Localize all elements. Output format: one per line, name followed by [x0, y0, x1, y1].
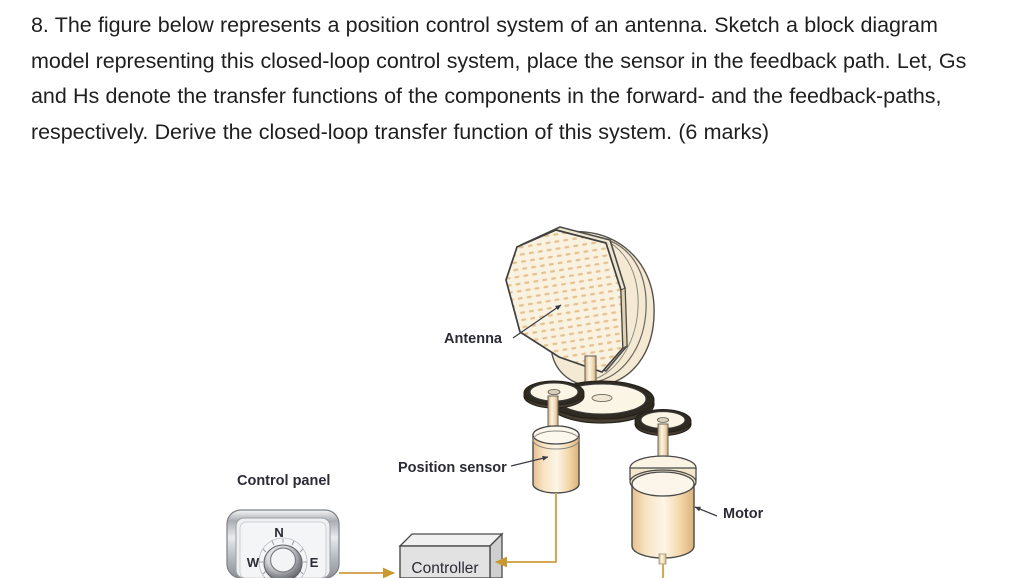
- motor-unit: [630, 424, 696, 564]
- antenna-system-figure: N W E Controller Antenna: [0, 196, 1024, 578]
- page-root: 8. The figure below represents a positio…: [0, 0, 1024, 578]
- control-panel[interactable]: N W E: [227, 510, 339, 578]
- compass-east-label: E: [310, 555, 319, 570]
- antenna-assembly: [506, 227, 654, 406]
- antenna-label: Antenna: [444, 331, 503, 347]
- antenna-dish-face: [506, 227, 627, 372]
- wire-sensor-to-controller: [496, 493, 556, 562]
- motor-label: Motor: [723, 506, 764, 522]
- control-panel-label: Control panel: [237, 473, 330, 489]
- compass-knob[interactable]: [264, 545, 302, 578]
- compass-west-label: W: [247, 555, 260, 570]
- controller-label: Controller: [411, 560, 478, 577]
- compass-north-label: N: [274, 525, 284, 540]
- question-text: 8. The figure below represents a positio…: [31, 8, 976, 150]
- motor-leader-line: [695, 507, 717, 516]
- controller-box[interactable]: Controller: [400, 534, 502, 578]
- position-sensor-label: Position sensor: [398, 460, 507, 476]
